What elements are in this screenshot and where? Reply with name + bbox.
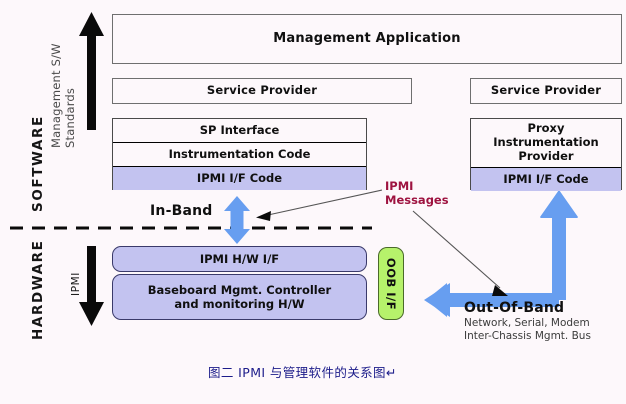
ipmi-architecture-diagram: SOFTWARE HARDWARE Management S/W Standar…: [0, 0, 626, 404]
left-sp-stack: SP Interface Instrumentation Code IPMI I…: [112, 118, 367, 190]
in-band-label: In-Band: [150, 203, 213, 219]
rail-label-software: SOFTWARE: [30, 115, 46, 212]
rail-label-management-standards-line2: Standards: [64, 88, 77, 148]
bmc-line2: and monitoring H/W: [174, 297, 304, 311]
ipmi-messages-label: IPMI Messages: [385, 179, 465, 208]
ipmi-hw-if-block: IPMI H/W I/F: [112, 246, 367, 272]
figure-caption: 图二 IPMI 与管理软件的关系图↵: [208, 362, 397, 381]
oob-if-label: OOB I/F: [384, 257, 398, 309]
ipmi-rail-arrow: [79, 246, 104, 326]
ipmi-messages-leader-left: [256, 190, 382, 221]
rail-label-hardware: HARDWARE: [30, 240, 46, 341]
left-service-provider-box: Service Provider: [112, 78, 412, 104]
oob-if-block: OOB I/F: [378, 247, 404, 320]
ipmi-messages-line2: Messages: [385, 193, 465, 207]
out-of-band-title: Out-Of-Band: [464, 300, 564, 316]
bmc-block: Baseboard Mgmt. Controller and monitorin…: [112, 274, 367, 320]
ipmi-messages-line1: IPMI: [385, 179, 465, 193]
left-stack-row-instrumentation-code: Instrumentation Code: [113, 143, 366, 167]
proxy-provider-line2: Instrumentation: [493, 136, 598, 150]
out-of-band-line1: Network, Serial, Modem: [464, 317, 626, 330]
bmc-line1: Baseboard Mgmt. Controller: [148, 283, 331, 297]
out-of-band-details: Network, Serial, Modem Inter-Chassis Mgm…: [464, 317, 626, 344]
out-of-band-line2: Inter-Chassis Mgmt. Bus: [464, 330, 626, 343]
right-proxy-stack: Proxy Instrumentation Provider IPMI I/F …: [470, 118, 622, 190]
proxy-provider-line1: Proxy: [528, 122, 565, 136]
ipmi-messages-leader-right: [413, 211, 508, 296]
management-application-box: Management Application: [112, 14, 622, 64]
out-of-band-arrow: [424, 190, 578, 317]
right-stack-row-proxy-provider: Proxy Instrumentation Provider: [471, 119, 621, 168]
rail-label-ipmi: IPMI: [70, 272, 82, 296]
in-band-arrow: [224, 196, 250, 244]
left-stack-row-sp-interface: SP Interface: [113, 119, 366, 143]
right-stack-row-ipmi-if-code: IPMI I/F Code: [471, 168, 621, 191]
rail-label-management-standards-line1: Management S/W: [50, 43, 63, 148]
proxy-provider-line3: Provider: [518, 150, 573, 164]
left-stack-row-ipmi-if-code: IPMI I/F Code: [113, 167, 366, 190]
right-service-provider-box: Service Provider: [470, 78, 622, 104]
management-standards-arrow: [79, 12, 104, 130]
